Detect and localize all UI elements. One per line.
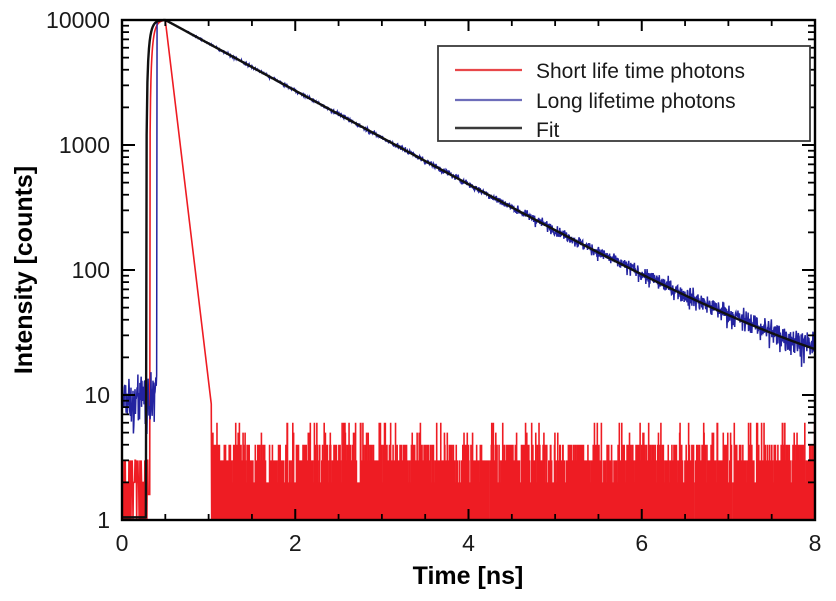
x-tick-label-2: 2 <box>289 530 302 556</box>
y-tick-label-1000: 1000 <box>59 132 110 158</box>
fluorescence-decay-figure: 02468 110100100010000 Time [ns] Intensit… <box>0 0 836 601</box>
x-tick-label-4: 4 <box>462 530 475 556</box>
y-tick-label-10: 10 <box>84 382 110 408</box>
x-tick-label-6: 6 <box>635 530 648 556</box>
legend-label-short-life-time-photons: Short life time photons <box>536 60 745 83</box>
x-axis-title: Time [ns] <box>413 562 524 590</box>
x-tick-label-8: 8 <box>809 530 822 556</box>
legend-label-long-lifetime-photons: Long lifetime photons <box>536 90 736 113</box>
chart-legend: Short life time photons Long lifetime ph… <box>438 46 810 142</box>
y-tick-label-1: 1 <box>97 507 110 533</box>
y-tick-label-100: 100 <box>72 257 110 283</box>
x-axis-tick-labels: 02468 <box>116 530 822 556</box>
y-axis-tick-labels: 110100100010000 <box>46 7 110 533</box>
chart-canvas: 02468 110100100010000 Time [ns] Intensit… <box>0 0 836 601</box>
legend-label-fit: Fit <box>536 119 559 142</box>
y-tick-label-10000: 10000 <box>46 7 110 33</box>
x-tick-label-0: 0 <box>116 530 129 556</box>
y-axis-title: Intensity [counts] <box>10 166 38 374</box>
